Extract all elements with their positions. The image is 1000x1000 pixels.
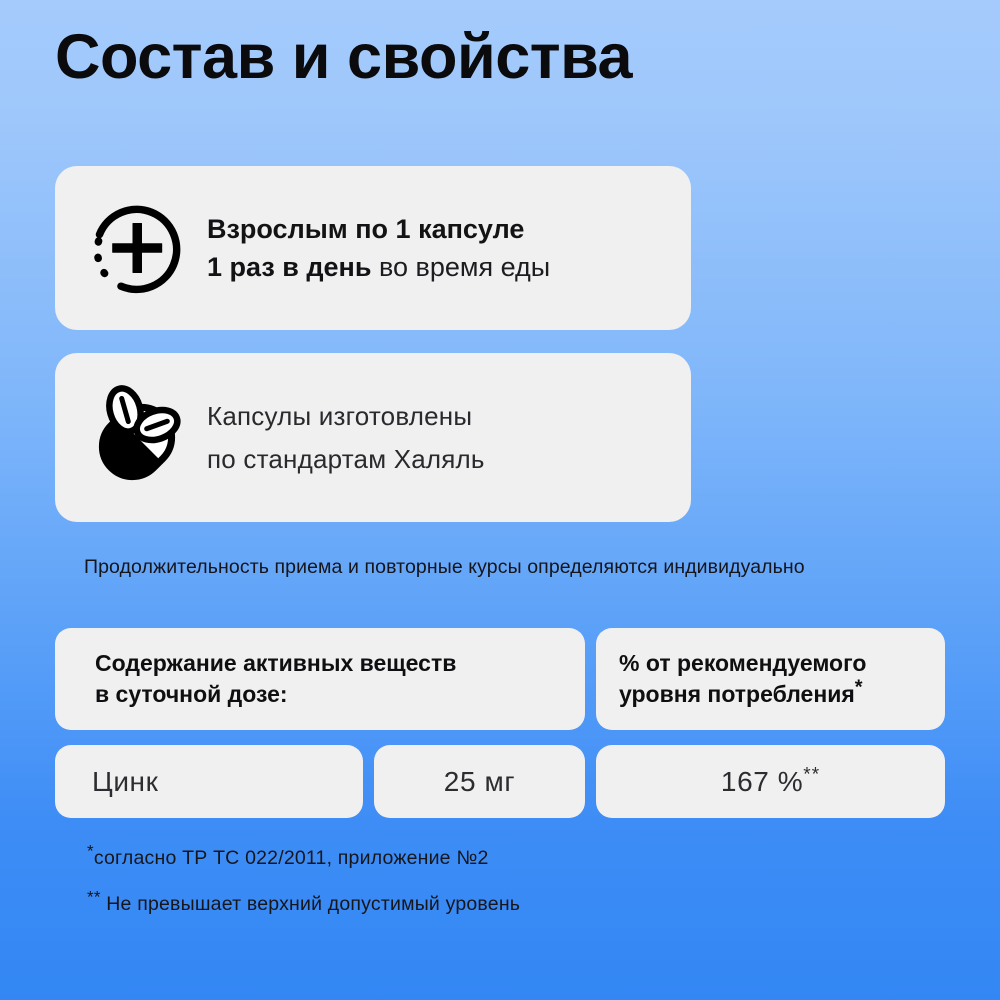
table-header-percent-text: % от рекомендуемого уровня потребления* bbox=[596, 648, 866, 711]
dosage-text: Взрослым по 1 капсуле 1 раз в день во вр… bbox=[201, 210, 691, 287]
table-row-cell-percent: 167 %** bbox=[596, 745, 945, 818]
substance-percent-wrap: 167 %** bbox=[721, 766, 820, 798]
dosage-frequency-text: 1 раз в день bbox=[207, 252, 371, 282]
dosage-line-2: 1 раз в день во время еды bbox=[207, 248, 691, 286]
table-row-cell-amount: 25 мг bbox=[374, 745, 585, 818]
table-header-percent: % от рекомендуемого уровня потребления* bbox=[596, 628, 945, 730]
footnote-1-text: согласно ТР ТС 022/2011, приложение №2 bbox=[94, 847, 489, 869]
duration-note: Продолжительность приема и повторные кур… bbox=[84, 556, 805, 579]
header-substance-line-1: Содержание активных веществ bbox=[95, 648, 456, 679]
footnote-2-text: Не превышает верхний допустимый уровень bbox=[101, 893, 521, 915]
halal-line-2: по стандартам Халяль bbox=[207, 438, 691, 480]
substance-percent-asterisk: ** bbox=[803, 764, 820, 785]
substance-amount: 25 мг bbox=[444, 766, 515, 798]
footnote-2-marker: ** bbox=[87, 888, 101, 907]
substance-percent: 167 % bbox=[721, 766, 803, 797]
table-header-substance: Содержание активных веществ в суточной д… bbox=[55, 628, 585, 730]
page-title: Состав и свойства bbox=[55, 26, 632, 89]
header-percent-asterisk: * bbox=[855, 676, 863, 698]
info-card-halal: Капсулы изготовлены по стандартам Халяль bbox=[55, 353, 691, 522]
info-card-dosage: Взрослым по 1 капсуле 1 раз в день во вр… bbox=[55, 166, 691, 330]
dosage-timing-text: во время еды bbox=[371, 252, 550, 282]
capsule-leaf-icon bbox=[73, 382, 201, 494]
table-header-substance-text: Содержание активных веществ в суточной д… bbox=[55, 648, 456, 711]
circle-plus-dashed-icon bbox=[73, 196, 201, 300]
dosage-line-1: Взрослым по 1 капсуле bbox=[207, 210, 691, 248]
dosage-line-1-text: Взрослым по 1 капсуле bbox=[207, 214, 524, 244]
header-percent-line-2: уровня потребления bbox=[619, 681, 855, 707]
header-substance-line-2: в суточной дозе: bbox=[95, 679, 456, 710]
footnote-1: *согласно ТР ТС 022/2011, приложение №2 bbox=[87, 847, 489, 870]
header-percent-line-2-wrap: уровня потребления* bbox=[619, 679, 866, 710]
substance-name: Цинк bbox=[55, 766, 158, 798]
halal-line-1: Капсулы изготовлены bbox=[207, 395, 691, 437]
footnote-1-marker: * bbox=[87, 842, 94, 861]
footnote-2: ** Не превышает верхний допустимый урове… bbox=[87, 893, 520, 916]
halal-text: Капсулы изготовлены по стандартам Халяль bbox=[201, 395, 691, 479]
table-row-cell-name: Цинк bbox=[55, 745, 363, 818]
header-percent-line-1: % от рекомендуемого bbox=[619, 648, 866, 679]
